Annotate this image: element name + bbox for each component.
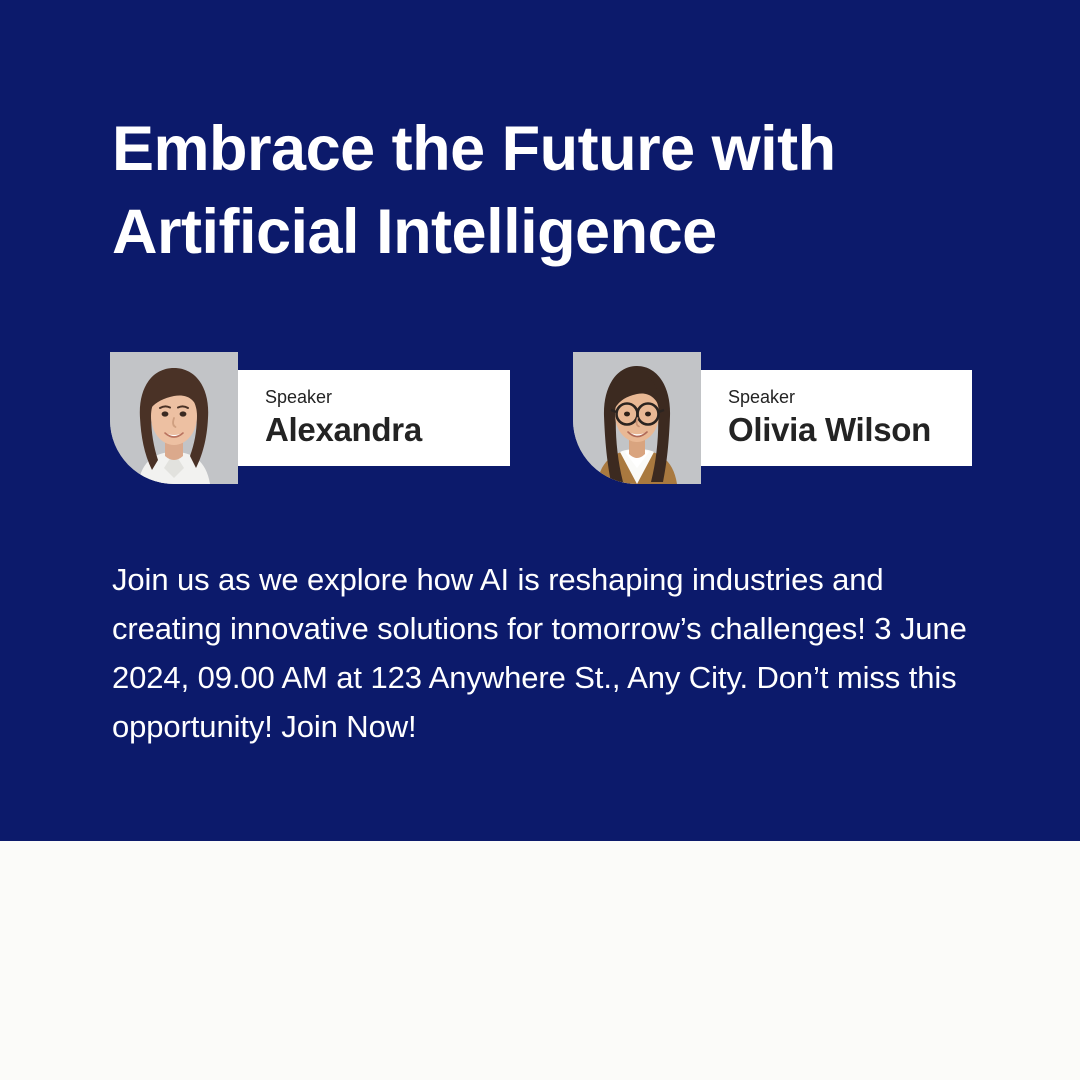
event-description: Join us as we explore how AI is reshapin… <box>112 556 992 752</box>
speaker-card: Speaker Alexandra <box>110 352 510 484</box>
speaker-card: Speaker Olivia Wilson <box>573 352 972 484</box>
event-poster: Embrace the Future with Artificial Intel… <box>0 0 1080 1080</box>
speaker-name: Alexandra <box>265 412 510 449</box>
speaker-role-label: Speaker <box>728 387 972 409</box>
speaker-role-label: Speaker <box>265 387 510 409</box>
avatar <box>110 352 238 484</box>
avatar <box>573 352 701 484</box>
speaker-name: Olivia Wilson <box>728 412 972 449</box>
speaker-info: Speaker Alexandra <box>238 370 510 466</box>
hero-section: Embrace the Future with Artificial Intel… <box>0 0 1080 841</box>
footer-section: Capcut Free Registration! Follow our soc… <box>0 841 1080 1080</box>
speaker-info: Speaker Olivia Wilson <box>701 370 972 466</box>
